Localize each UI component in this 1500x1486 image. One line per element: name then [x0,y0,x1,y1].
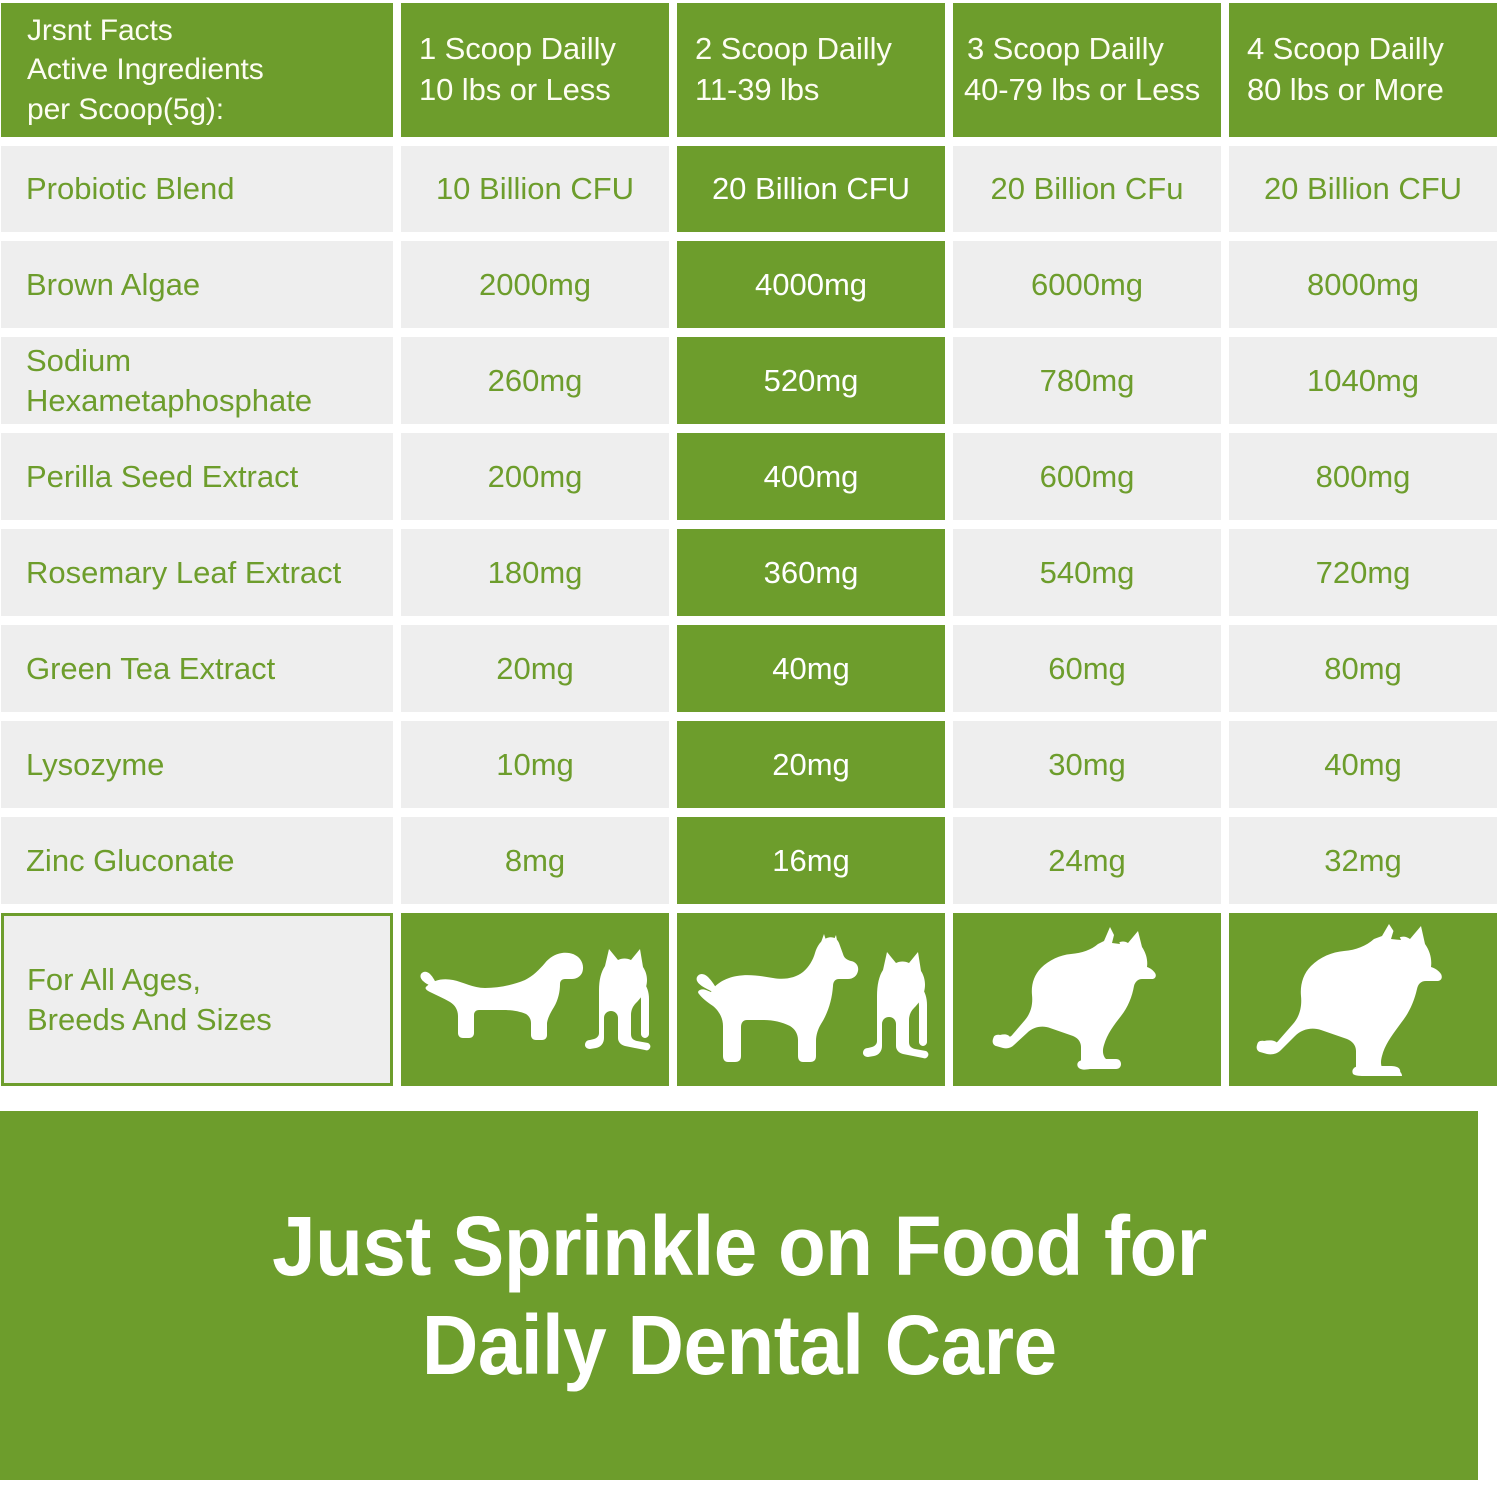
header-title-line2: Active Ingredients [27,50,393,90]
ingredient-value: 24mg [953,817,1221,904]
ingredient-name-line2: Hexametaphosphate [26,381,383,421]
ingredient-value: 10mg [401,721,669,808]
header-title-line1: Jrsnt Facts [27,11,393,51]
ingredient-value: 720mg [1229,529,1497,616]
ingredient-name-line1: Brown Algae [26,265,383,305]
ingredient-name-line1: Sodium [26,341,383,381]
small-dog-and-cat-icon [419,930,651,1070]
supplement-facts-table: Jrsnt Facts Active Ingredients per Scoop… [0,0,1500,1095]
ingredient-value-highlighted: 20mg [677,721,945,808]
ingredient-name-line1: Green Tea Extract [26,649,383,689]
header-dose-1-weight: 10 lbs or Less [419,70,669,111]
ingredient-value-highlighted: 360mg [677,529,945,616]
ingredient-name: Sodium Hexametaphosphate [1,337,393,424]
ingredient-value-highlighted: 520mg [677,337,945,424]
ingredient-value: 180mg [401,529,669,616]
ingredient-value: 8000mg [1229,241,1497,328]
ingredient-value: 200mg [401,433,669,520]
pet-icon-cell-4 [1229,913,1497,1086]
footer-banner: Just Sprinkle on Food for Daily Dental C… [0,1111,1478,1480]
ingredient-value: 80mg [1229,625,1497,712]
table-row: Perilla Seed Extract 200mg 400mg 600mg 8… [1,433,1497,520]
ingredient-value: 780mg [953,337,1221,424]
ingredient-value: 40mg [1229,721,1497,808]
header-dose-4-weight: 80 lbs or More [1247,70,1497,111]
ingredient-value: 600mg [953,433,1221,520]
sitting-shepherd-dog-icon [992,927,1182,1072]
ingredient-value: 32mg [1229,817,1497,904]
pet-icon-cell-2 [677,913,945,1086]
pet-icon-cell-1 [401,913,669,1086]
header-dose-2: 2 Scoop Dailly 11-39 lbs [677,3,945,137]
header-dose-3-scoops: 3 Scoop Dailly [967,29,1221,70]
table-row: Green Tea Extract 20mg 40mg 60mg 80mg [1,625,1497,712]
ingredient-name-line1: Zinc Gluconate [26,841,383,881]
ingredient-value: 2000mg [401,241,669,328]
ingredient-name-line1: Rosemary Leaf Extract [26,553,383,593]
ingredient-value: 8mg [401,817,669,904]
table-header-row: Jrsnt Facts Active Ingredients per Scoop… [1,3,1497,137]
header-dose-1: 1 Scoop Dailly 10 lbs or Less [401,3,669,137]
supplement-facts-page: Jrsnt Facts Active Ingredients per Scoop… [0,0,1500,1480]
table-row: Lysozyme 10mg 20mg 30mg 40mg [1,721,1497,808]
header-dose-4: 4 Scoop Dailly 80 lbs or More [1229,3,1497,137]
ingredient-name: Green Tea Extract [1,625,393,712]
ingredient-value: 60mg [953,625,1221,712]
ingredient-name: Perilla Seed Extract [1,433,393,520]
ingredient-value-highlighted: 16mg [677,817,945,904]
ingredient-name: Probiotic Blend [1,146,393,232]
banner-line-2: Daily Dental Care [422,1296,1057,1394]
header-title-line3: per Scoop(5g): [27,90,393,130]
table-row: Sodium Hexametaphosphate 260mg 520mg 780… [1,337,1497,424]
ingredient-value: 6000mg [953,241,1221,328]
header-dose-3-weight: 40-79 lbs or Less [964,70,1221,111]
ingredient-value: 260mg [401,337,669,424]
ingredient-value-highlighted: 400mg [677,433,945,520]
ingredient-value-highlighted: 40mg [677,625,945,712]
banner-line-1: Just Sprinkle on Food for [272,1197,1207,1295]
for-all-ages-line2: Breeds And Sizes [27,1000,390,1040]
ingredient-value-highlighted: 20 Billion CFU [677,146,945,232]
ingredient-name-line1: Probiotic Blend [26,169,383,209]
ingredient-value: 20 Billion CFU [1229,146,1497,232]
ingredient-name-line1: Lysozyme [26,745,383,785]
table-row-pets: For All Ages, Breeds And Sizes [1,913,1497,1086]
header-dose-2-weight: 11-39 lbs [695,70,945,111]
ingredient-name: Brown Algae [1,241,393,328]
table-row: Brown Algae 2000mg 4000mg 6000mg 8000mg [1,241,1497,328]
ingredient-value: 540mg [953,529,1221,616]
header-dose-3: 3 Scoop Dailly 40-79 lbs or Less [953,3,1221,137]
header-active-ingredients: Jrsnt Facts Active Ingredients per Scoop… [1,3,393,137]
table-row: Probiotic Blend 10 Billion CFU 20 Billio… [1,146,1497,232]
ingredient-value: 10 Billion CFU [401,146,669,232]
for-all-ages-cell: For All Ages, Breeds And Sizes [1,913,393,1086]
table-row: Zinc Gluconate 8mg 16mg 24mg 32mg [1,817,1497,904]
header-dose-1-scoops: 1 Scoop Dailly [419,29,669,70]
ingredient-value: 30mg [953,721,1221,808]
pet-icon-cell-3 [953,913,1221,1086]
header-dose-4-scoops: 4 Scoop Dailly [1247,29,1497,70]
ingredient-value: 800mg [1229,433,1497,520]
ingredient-value: 1040mg [1229,337,1497,424]
ingredient-value-highlighted: 4000mg [677,241,945,328]
ingredient-name: Lysozyme [1,721,393,808]
large-sitting-shepherd-dog-icon [1256,924,1471,1076]
medium-dog-and-cat-icon [693,930,929,1070]
ingredient-value: 20 Billion CFu [953,146,1221,232]
table-row: Rosemary Leaf Extract 180mg 360mg 540mg … [1,529,1497,616]
for-all-ages-line1: For All Ages, [27,960,390,1000]
header-dose-2-scoops: 2 Scoop Dailly [695,29,945,70]
ingredient-name: Rosemary Leaf Extract [1,529,393,616]
ingredient-name-line1: Perilla Seed Extract [26,457,383,497]
ingredient-name: Zinc Gluconate [1,817,393,904]
ingredient-value: 20mg [401,625,669,712]
